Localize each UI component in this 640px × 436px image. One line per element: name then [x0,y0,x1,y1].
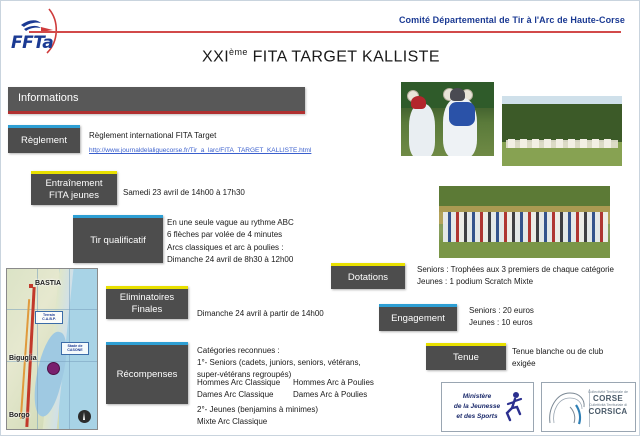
photo-group-participants [438,185,611,259]
recompenses-poulies-text: Hommes Arc à Poulies Dames Arc à Poulies [293,377,403,401]
organization-title: Comité Départemental de Tir à l'Arc de H… [399,15,625,25]
poster-page: FFTa Comité Départemental de Tir à l'Arc… [0,0,640,436]
recompenses-classique-text: Hommes Arc Classique Dames Arc Classique [197,377,293,401]
map-venue-marker [47,362,60,375]
logo-corse-text: Collectivité Territoriale de CORSE Culle… [584,390,632,417]
photo-target-field [501,95,623,167]
engagement-text: Seniors : 20 euros Jeunes : 10 euros [469,305,619,329]
map-callout-terrain-cabp: Terrain C.A.B.P. [35,311,63,324]
reglement-link[interactable]: http://www.journaldelaliguecorse.fr/Tir_… [89,147,311,154]
informations-label: Informations [18,92,79,104]
map-city-dot [29,284,33,288]
corse-head-icon [546,389,588,427]
tenue-text: Tenue blanche ou de club exigée [512,346,632,370]
location-map[interactable]: BASTIA Biguglia Borgo Terrain C.A.B.P. S… [6,268,98,430]
header-divider [29,31,621,33]
section-label-entrainement: Entraînement FITA jeunes [31,171,117,205]
map-city-bastia: BASTIA [35,280,61,287]
map-callout-stade-casone: Stade de CASONE [61,342,89,355]
title-prefix: XXI [202,48,229,65]
logo-collectivite-territoriale-corse: Collectivité Territoriale de CORSE Culle… [541,382,636,432]
map-city-biguglia: Biguglia [9,355,37,362]
logo-ministere-text: Ministère de la Jeunesse et des Sports [446,392,508,421]
title-ordinal-suffix: ème [229,47,248,57]
logo-corse-big-1: CORSE [584,394,632,403]
section-label-dotations: Dotations [331,263,405,289]
runner-icon [503,391,525,425]
entrainement-text: Samedi 23 avril de 14h00 à 17h30 [123,187,323,199]
section-label-eliminatoires-finales: Eliminatoires Finales [106,286,188,319]
section-label-reglement: Règlement [8,125,80,153]
photo-archers-shooting [400,81,495,157]
title-rest: FITA TARGET KALLISTE [248,48,440,65]
logo-ministere-jeunesse-sports: Ministère de la Jeunesse et des Sports [441,382,534,432]
map-compass-icon [78,410,91,423]
section-label-engagement: Engagement [379,304,457,331]
informations-banner: Informations [8,87,305,114]
section-label-tenue: Tenue [426,343,506,370]
recompenses-categories-text: Catégories reconnues : 1°- Seniors (cade… [197,345,397,381]
section-label-tir-qualificatif: Tir qualificatif [73,215,163,263]
eliminatoires-text: Dimanche 24 avril à partir de 14h00 [197,308,387,320]
section-label-recompenses: Récompenses [106,342,188,404]
map-city-borgo: Borgo [9,412,30,419]
map-gridline [37,269,38,430]
recompenses-jeunes-text: 2°- Jeunes (benjamins à minimes) Mixte A… [197,404,397,428]
dotations-text: Seniors : Trophées aux 3 premiers de cha… [417,264,637,288]
map-gridline [7,309,98,310]
reglement-text: Règlement international FITA Target [89,130,339,142]
page-title: XXIème FITA TARGET KALLISTE [1,47,640,66]
tir-qualificatif-text: En une seule vague au rythme ABC 6 flèch… [167,217,357,267]
logo-corse-big-2: CORSICA [584,407,632,416]
